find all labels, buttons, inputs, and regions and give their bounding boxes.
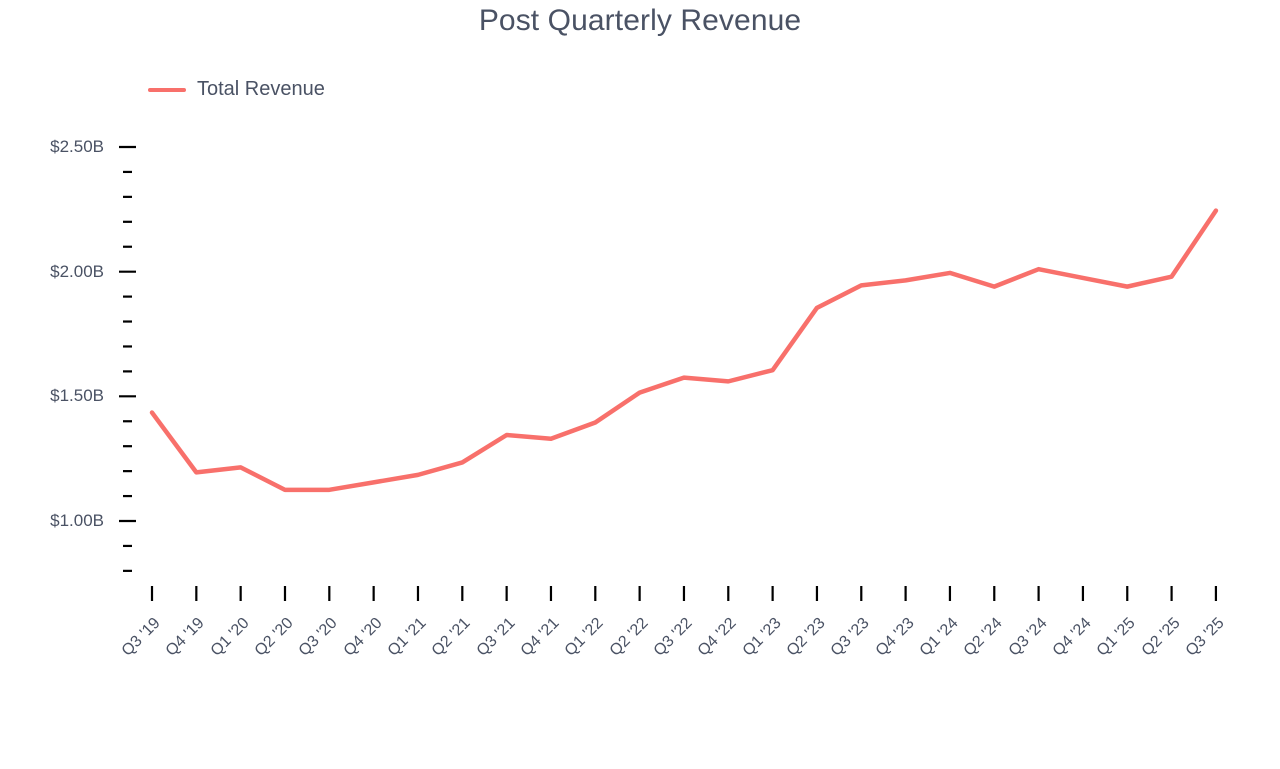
x-axis-labels: Q3 '19Q4 '19Q1 '20Q2 '20Q3 '20Q4 '20Q1 '… [0,0,1280,720]
chart-container: Post Quarterly Revenue Total Revenue $2.… [0,0,1280,720]
